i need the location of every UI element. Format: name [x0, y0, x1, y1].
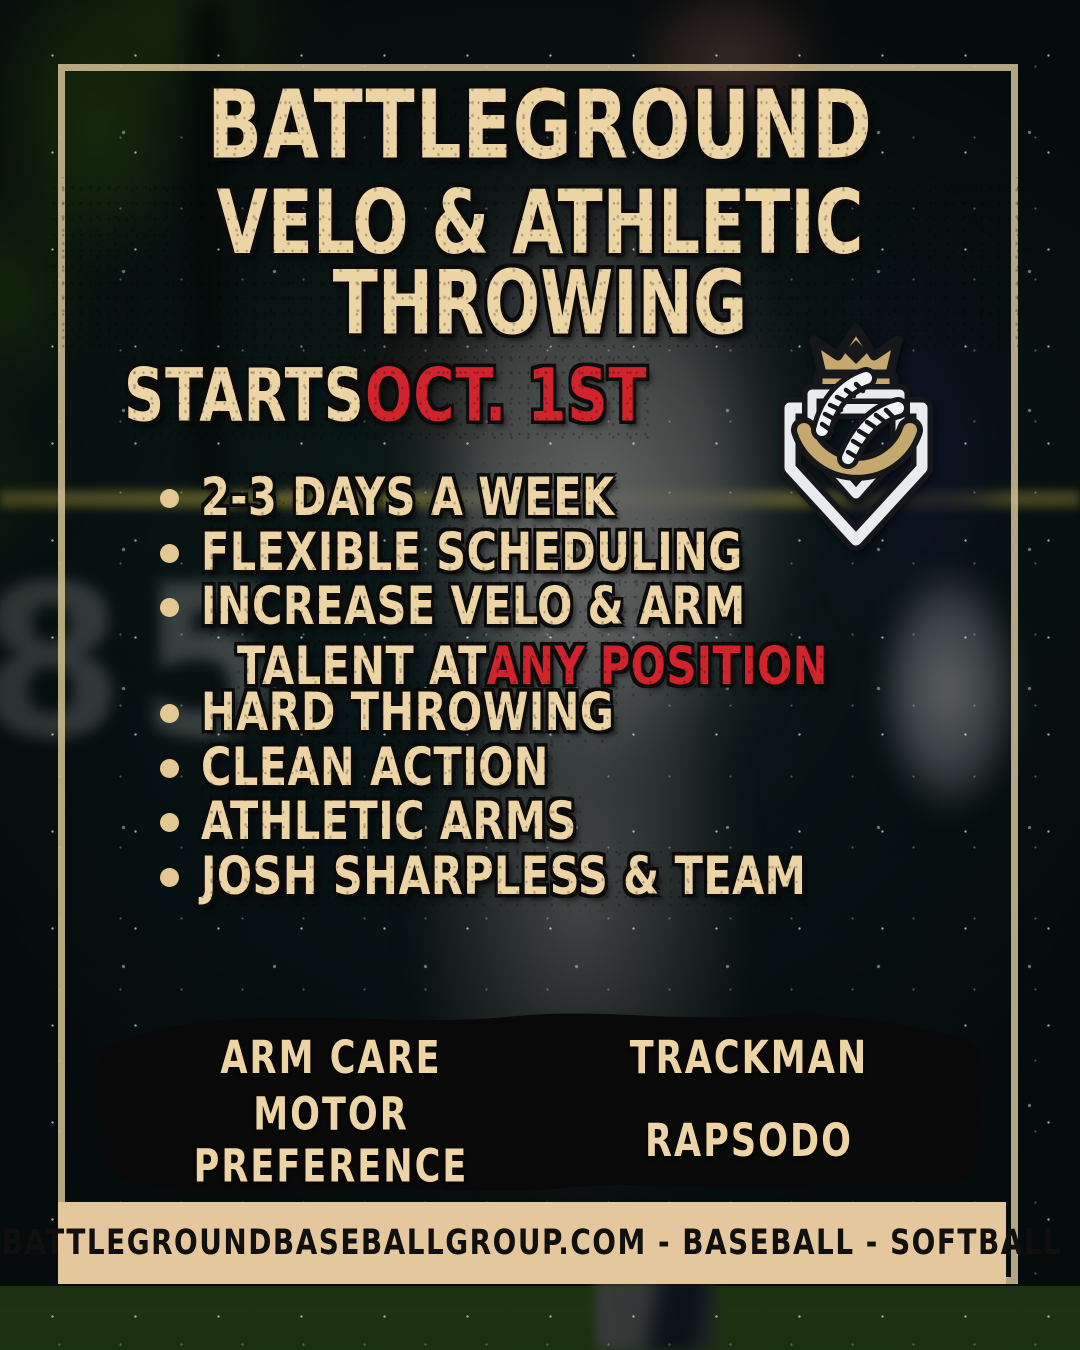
- list-item: HARD THROWING: [160, 683, 960, 735]
- list-item-label: ATHLETIC ARMS: [201, 792, 577, 851]
- list-item-line-1: INCREASE VELO & ARM: [201, 577, 746, 636]
- list-item-label: CLEAN ACTION: [201, 738, 549, 797]
- bullet-dot-icon: [160, 544, 179, 563]
- list-item-label: HARD THROWING: [201, 683, 614, 742]
- list-item: FLEXIBLE SCHEDULING: [160, 523, 960, 575]
- title-line-1: BATTLEGROUND: [207, 82, 873, 169]
- starts-label: STARTS: [124, 352, 365, 438]
- feature-list: 2-3 DAYS A WEEK FLEXIBLE SCHEDULING INCR…: [160, 468, 960, 901]
- list-item-label: JOSH SHARPLESS & TEAM: [201, 847, 806, 906]
- footer-bar: BATTLEGROUNDBASEBALLGROUP.COM - BASEBALL…: [58, 1202, 1006, 1284]
- list-item-label: FLEXIBLE SCHEDULING: [201, 523, 743, 582]
- list-item: 2-3 DAYS A WEEK: [160, 468, 960, 520]
- bullet-dot-icon: [160, 813, 179, 832]
- service-label-rapsodo: RAPSODO: [645, 1115, 853, 1167]
- poster-title: BATTLEGROUND VELO & ATHLETIC THROWING: [62, 82, 1018, 314]
- service-label-arm-care: ARM CARE: [220, 1032, 441, 1084]
- promo-poster: 85 BATTLEGROUND VELO & ATHLETIC THROWING…: [0, 0, 1080, 1350]
- bullet-dot-icon: [160, 704, 179, 723]
- list-item: INCREASE VELO & ARM TALENT AT ANY POSITI…: [160, 577, 960, 680]
- bullet-dot-icon: [160, 868, 179, 887]
- list-item-label: INCREASE VELO & ARM TALENT AT ANY POSITI…: [201, 577, 828, 695]
- list-item: JOSH SHARPLESS & TEAM: [160, 847, 960, 899]
- list-item: CLEAN ACTION: [160, 738, 960, 790]
- bullet-dot-icon: [160, 489, 179, 508]
- bullet-dot-icon: [160, 598, 179, 617]
- footer-website-text: BATTLEGROUNDBASEBALLGROUP.COM - BASEBALL…: [2, 1223, 1063, 1263]
- start-date-value: OCT. 1ST: [365, 352, 648, 438]
- list-item-label: 2-3 DAYS A WEEK: [201, 468, 615, 527]
- bullet-dot-icon: [160, 759, 179, 778]
- service-label-motor-preference: MOTOR PREFERENCE: [122, 1089, 540, 1193]
- list-item: ATHLETIC ARMS: [160, 792, 960, 844]
- services-panel: ARM CARE TRACKMAN MOTOR PREFERENCE RAPSO…: [96, 1006, 984, 1202]
- start-date-line: STARTS OCT. 1ST: [124, 352, 648, 438]
- service-label-trackman: TRACKMAN: [630, 1032, 869, 1084]
